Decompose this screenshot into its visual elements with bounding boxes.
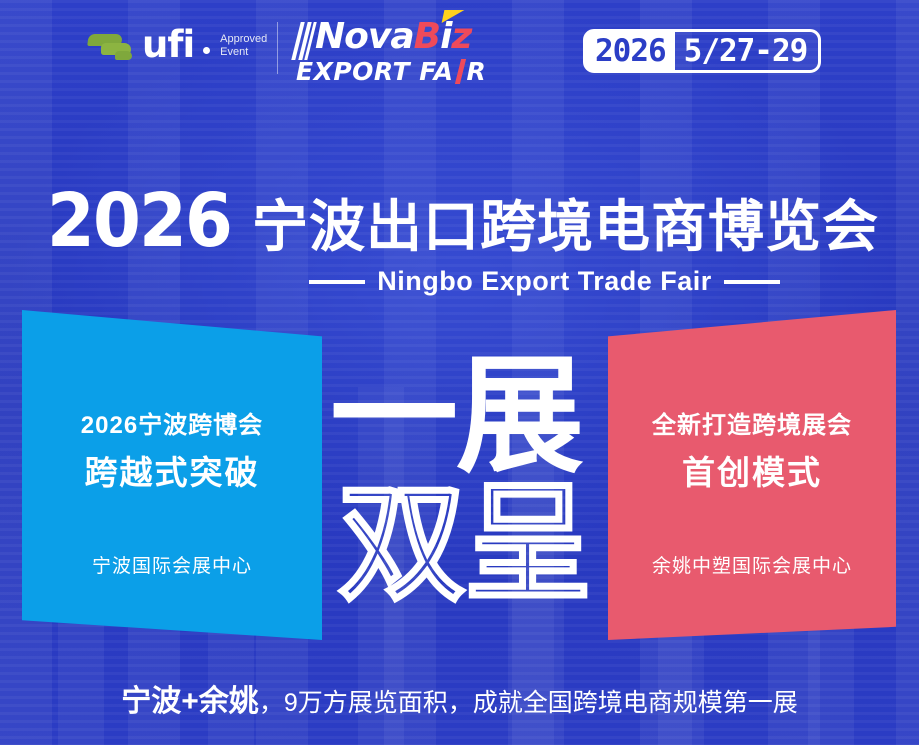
ufi-wordmark: ufi [142,27,194,62]
panel-right-line1: 全新打造跨境展会 [652,405,852,440]
main-title-year: 2026 [47,178,231,264]
panel-left-line1: 2026宁波跨博会 [81,405,263,440]
bottom-tagline: 宁波+余姚，9万方展览面积，成就全国跨境电商规模第一展 [0,676,919,720]
main-title-subtitle: Ningbo Export Trade Fair [0,266,919,297]
subtitle-rule-left [309,280,365,284]
novabiz-b-text: B [414,20,440,54]
date-badge-year: 2026 [586,32,675,70]
subtitle-rule-right [724,280,780,284]
novabiz-i-group: i [440,20,451,54]
novabiz-r-text: R [467,57,487,86]
panel-right-yuyao: 全新打造跨境展会 首创模式 余姚中塑国际会展中心 [608,310,896,640]
main-title-block: 2026 宁波出口跨境电商博览会 Ningbo Export Trade Fai… [0,178,919,297]
novabiz-z-text: z [451,20,471,54]
novabiz-nova-text: Nova [315,20,414,54]
novabiz-bottom-row: EXPORT FA R [296,57,486,86]
hero-slogan: 一展 双呈 [330,352,598,634]
header-divider [277,22,278,74]
novabiz-logo: Nova B i z EXPORT FA R [296,20,486,86]
panel-left-line2: 跨越式突破 [85,446,260,494]
ufi-logo: ufi Approved Event [88,27,267,62]
panel-right-venue: 余姚中塑国际会展中心 [652,551,852,578]
ufi-approved-line2: Event [220,46,267,59]
panel-left-venue: 宁波国际会展中心 [92,551,252,578]
novabiz-bar-icon [454,59,465,84]
main-title-english: Ningbo Export Trade Fair [377,266,712,297]
main-title-row: 2026 宁波出口跨境电商博览会 [0,178,919,264]
poster-root: ufi Approved Event Nova B i z EXPORT FA [0,0,919,745]
novabiz-slash-icon [296,20,314,60]
ufi-leaf-icon [88,28,135,62]
tagline-rest: ，9万方展览面积，成就全国跨境电商规模第一展 [259,689,798,717]
panel-right-line2: 首创模式 [682,446,822,494]
hero-slogan-top: 一展 [330,352,598,483]
ufi-dot-icon [203,47,210,54]
novabiz-triangle-icon [442,10,465,23]
main-title-chinese: 宁波出口跨境电商博览会 [252,182,879,263]
novabiz-export-fa-text: EXPORT FA [296,57,454,86]
panel-left-ningbo: 2026宁波跨博会 跨越式突破 宁波国际会展中心 [22,310,322,640]
ufi-approved-event: Approved Event [220,33,267,59]
ufi-approved-line1: Approved [220,33,267,46]
hero-slogan-bottom: 双呈 [338,480,606,611]
novabiz-top-row: Nova B i z [296,20,486,60]
date-badge: 2026 5/27-29 [583,29,821,73]
date-badge-range: 5/27-29 [675,32,819,70]
header-bar: ufi Approved Event Nova B i z EXPORT FA [0,0,919,100]
tagline-strong: 宁波+余姚 [121,685,259,718]
